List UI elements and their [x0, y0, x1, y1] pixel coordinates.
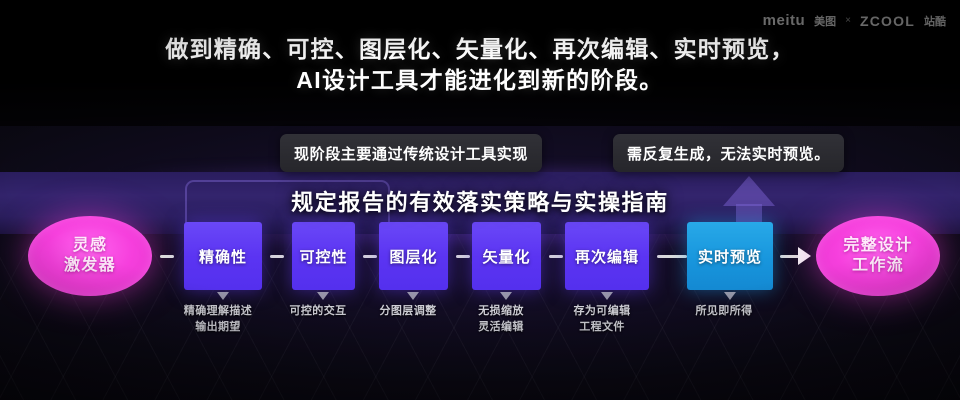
zcool-logo: ZCOOL — [860, 13, 915, 29]
connector-5 — [657, 255, 687, 258]
slide-canvas: meitu 美图 × ZCOOL 站酷 做到精确、可控、图层化、矢量化、再次编辑… — [0, 0, 960, 400]
flow-node-5: 实时预览 — [687, 222, 773, 290]
caption-2-line1: 分图层调整 — [358, 304, 458, 320]
flow-end-node: 完整设计 工作流 — [816, 216, 940, 296]
brand-logo: meitu 美图 × ZCOOL 站酷 — [763, 12, 946, 29]
tick-3 — [500, 292, 512, 300]
caption-0-line2: 输出期望 — [163, 320, 273, 336]
flow-end-label-line1: 完整设计 — [843, 236, 912, 256]
caption-1: 可控的交互 — [268, 304, 368, 320]
flow-diagram: 灵感 激发器 精确性 可控性 图层化 矢量化 再次编辑 实时预览 完整设计 工作… — [0, 216, 960, 296]
flow-start-label-line2: 激发器 — [64, 256, 116, 276]
headline-line-1: 做到精确、可控、图层化、矢量化、再次编辑、实时预览， — [0, 34, 960, 65]
caption-5: 所见即所得 — [672, 304, 776, 320]
caption-0: 精确理解描述 输出期望 — [163, 304, 273, 336]
info-chip-current-stage: 现阶段主要通过传统设计工具实现 — [280, 134, 542, 172]
caption-4-line1: 存为可编辑 — [552, 304, 652, 320]
connector-3 — [456, 255, 470, 258]
tick-0 — [217, 292, 229, 300]
tick-1 — [317, 292, 329, 300]
flow-start-label-line1: 灵感 — [73, 236, 108, 256]
caption-4: 存为可编辑 工程文件 — [552, 304, 652, 336]
connector-2 — [363, 255, 377, 258]
connector-4 — [549, 255, 563, 258]
zcool-logo-cn: 站酷 — [924, 13, 946, 29]
meitu-logo-cn: 美图 — [814, 13, 836, 29]
caption-3: 无损缩放 灵活编辑 — [456, 304, 546, 336]
caption-4-line2: 工程文件 — [552, 320, 652, 336]
headline: 做到精确、可控、图层化、矢量化、再次编辑、实时预览， AI设计工具才能进化到新的… — [0, 34, 960, 95]
caption-3-line2: 灵活编辑 — [456, 320, 546, 336]
caption-1-line1: 可控的交互 — [268, 304, 368, 320]
flow-node-4: 再次编辑 — [565, 222, 649, 290]
tick-4 — [601, 292, 613, 300]
caption-5-line1: 所见即所得 — [672, 304, 776, 320]
caption-3-line1: 无损缩放 — [456, 304, 546, 320]
overlay-title: 规定报告的有效落实策略与实操指南 — [0, 185, 960, 217]
tick-5 — [724, 292, 736, 300]
caption-2: 分图层调整 — [358, 304, 458, 320]
flow-node-3: 矢量化 — [472, 222, 541, 290]
logo-separator-icon: × — [845, 15, 851, 26]
info-chip-regenerate: 需反复生成，无法实时预览。 — [613, 134, 844, 172]
flow-end-label-line2: 工作流 — [852, 256, 904, 276]
flow-node-2: 图层化 — [379, 222, 448, 290]
meitu-logo: meitu — [763, 12, 806, 29]
connector-0 — [160, 255, 174, 258]
headline-line-2: AI设计工具才能进化到新的阶段。 — [0, 65, 960, 96]
flow-start-node: 灵感 激发器 — [28, 216, 152, 296]
caption-0-line1: 精确理解描述 — [163, 304, 273, 320]
connector-6 — [780, 255, 800, 258]
flow-node-1: 可控性 — [292, 222, 355, 290]
flow-arrow-icon — [798, 247, 811, 265]
tick-2 — [407, 292, 419, 300]
flow-node-0: 精确性 — [184, 222, 262, 290]
connector-1 — [270, 255, 284, 258]
